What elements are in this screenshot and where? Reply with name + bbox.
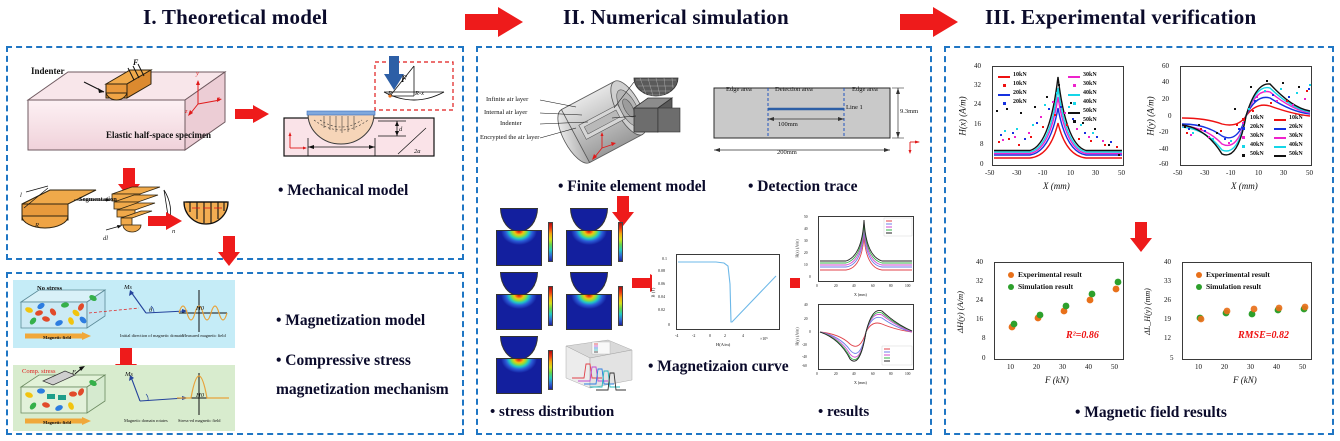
trace-label-edge-left: Edge area <box>726 86 752 93</box>
dh-ytick-16: 16 <box>976 315 983 323</box>
dh-xtick-30: 30 <box>1059 363 1066 371</box>
hy-xlabel: X (mm) <box>1231 181 1258 191</box>
dl-ytick-33: 33 <box>1164 277 1171 285</box>
dl-xtick-20: 20 <box>1221 363 1228 371</box>
dh-ytick-32: 32 <box>976 277 983 285</box>
H0-label-2: H0 <box>196 392 204 399</box>
hx-legend-30kN-dot: 30kN <box>1083 81 1097 87</box>
stage3-title: III. Experimental verification <box>985 5 1256 30</box>
stress-waterfall-plot <box>562 338 634 396</box>
dl-legend-experimental: Experimental result <box>1206 270 1270 279</box>
hy-legend-line-10kN <box>1274 119 1286 121</box>
hy-legend-40kN-dot: 40kN <box>1250 142 1264 148</box>
hy-xtick--50: -50 <box>1173 169 1182 177</box>
hx-legend-10kN-dot: 10kN <box>1013 81 1027 87</box>
hy-ylabel: H(y) (A/m) <box>1146 96 1156 135</box>
exp-chart-hx: 40 32 24 16 8 0 -50 -30 -10 10 30 50 X (… <box>958 56 1144 216</box>
hy-legend-50kN-dot: 50kN <box>1250 151 1264 157</box>
hx-ytick-0: 0 <box>980 160 984 168</box>
hy-legend-dot-10kN <box>1242 118 1245 121</box>
dh-xtick-40: 40 <box>1085 363 1092 371</box>
exp-chart-hy: 60 40 20 0 -20 -40 -60 -50 -30 -10 10 30… <box>1146 56 1332 216</box>
dh-xtick-50: 50 <box>1111 363 1118 371</box>
hx-legend-line-40kN <box>1068 94 1080 96</box>
dh-legend-experimental: Experimental result <box>1018 270 1082 279</box>
hy-legend-30kN-line: 30kN <box>1289 133 1303 139</box>
bullet-compressive-stress-2: magnetization mechanism <box>276 381 449 399</box>
hx-ylabel: H(x) (A/m) <box>958 96 968 135</box>
dl-annotation-rmse: RMSE=0.82 <box>1238 330 1289 341</box>
force-label-2: F <box>401 74 407 84</box>
dl-ytick-40: 40 <box>1164 258 1171 266</box>
H0-label-1: H0 <box>196 305 204 312</box>
sim-result-hx-chart: 50 40 30 20 10 0 0 20 40 60 80 100 X (mm… <box>800 212 920 312</box>
hy-legend-40kN-line: 40kN <box>1289 142 1303 148</box>
finite-element-model-diagram <box>484 60 704 175</box>
dl-legend-dot-experimental <box>1196 272 1202 278</box>
hx-legend-20kN-line: 20kN <box>1013 90 1027 96</box>
hx-xtick--10: -10 <box>1038 169 1047 177</box>
hy-legend-dot-40kN <box>1242 145 1245 148</box>
hy-xtick-30: 30 <box>1280 169 1287 177</box>
dh-xlabel: F (kN) <box>1045 375 1069 385</box>
hy-ytick--60: -60 <box>1159 160 1168 168</box>
hx-legend-line-50kN <box>1068 112 1080 114</box>
hx-legend-50kN-line: 50kN <box>1083 108 1097 114</box>
magcurve-ylabel: B (T) <box>650 288 655 298</box>
magnetization-curve-chart: 0.1 0.08 0.06 0.04 0.02 0 -4 -2 0 2 4 H(… <box>652 248 792 358</box>
dh-ytick-40: 40 <box>976 258 983 266</box>
hy-ytick-40: 40 <box>1162 78 1169 86</box>
magcurve-xexp: ×10⁵ <box>760 336 768 341</box>
contact-model-diagram <box>278 58 458 168</box>
sim-hy-xlabel: X (mm) <box>854 380 867 385</box>
hx-legend-line-30kN <box>1068 76 1080 78</box>
Ms-label-2: Ms <box>125 371 133 378</box>
bullet-mechanical-model: • Mechanical model <box>278 182 408 200</box>
hy-ytick--20: -20 <box>1159 128 1168 136</box>
trace-label-100mm: 100mm <box>778 121 798 128</box>
hx-xtick--30: -30 <box>1012 169 1021 177</box>
bullet-finite-element-model: • Finite element model <box>558 178 706 196</box>
figure-canvas: I. Theoretical model II. Numerical simul… <box>0 0 1340 441</box>
hx-legend-dot-30kN <box>1073 84 1076 87</box>
hy-legend-50kN-line: 50kN <box>1289 151 1303 157</box>
axis-z-label-1: z <box>185 108 188 115</box>
hx-ytick-8: 8 <box>980 140 984 148</box>
dl-xtick-50: 50 <box>1299 363 1306 371</box>
contact-width-label: 2a <box>414 148 421 155</box>
bullet-magnetization-model: • Magnetization model <box>276 312 425 330</box>
bullet-magnetic-field-results: • Magnetic field results <box>1075 404 1227 422</box>
arrow-to-magnetization-icon <box>218 236 240 266</box>
magnetic-field-caption-1: Magnetic field <box>43 335 71 340</box>
bullet-detection-trace: • Detection trace <box>748 178 858 196</box>
length-l-label: l <box>20 192 22 199</box>
hy-legend-line-40kN <box>1274 146 1286 148</box>
dh-ylabel: ΔH(y) (A/m) <box>955 291 965 333</box>
dl-xlabel: F (kN) <box>1233 375 1257 385</box>
dl-label: dl <box>103 235 108 242</box>
hx-legend-dot-40kN <box>1073 102 1076 105</box>
dl-ytick-26: 26 <box>1164 296 1171 304</box>
hx-xlabel: X (mm) <box>1043 181 1070 191</box>
hx-legend-10kN-line: 10kN <box>1013 72 1027 78</box>
fem-label-internal-air: Internal air layer <box>484 109 527 116</box>
hy-legend-30kN-dot: 30kN <box>1250 133 1264 139</box>
dl-ytick-19: 19 <box>1164 315 1171 323</box>
stage1-to-stage2-arrow-icon <box>465 7 523 37</box>
dh-xtick-20: 20 <box>1033 363 1040 371</box>
stage2-title: II. Numerical simulation <box>563 5 789 30</box>
dh-ytick-24: 24 <box>976 296 983 304</box>
hy-legend-line-30kN <box>1274 137 1286 139</box>
axis-y-label-1: y <box>196 70 199 77</box>
trace-label-9.3mm: 9.3mm <box>900 108 918 115</box>
hy-legend-20kN-line: 20kN <box>1289 124 1303 130</box>
hy-legend-dot-20kN <box>1242 127 1245 130</box>
bullet-stress-distribution: • stress distribution <box>490 404 614 421</box>
hx-legend-line-20kN <box>998 94 1010 96</box>
dh-legend-dot-experimental <box>1008 272 1014 278</box>
specimen-label: Elastic half-space specimen <box>106 130 211 140</box>
segmentation-diagram <box>14 182 234 252</box>
hx-legend-40kN-dot: 40kN <box>1083 99 1097 105</box>
hy-xtick--30: -30 <box>1200 169 1209 177</box>
inset-R-label: R <box>388 90 392 97</box>
arrow-to-contact-model-icon <box>235 105 269 123</box>
bullet-compressive-stress-1: • Compressive stress <box>276 352 411 370</box>
fem-label-indenter: Indenter <box>500 120 522 127</box>
hy-legend-10kN-line: 10kN <box>1289 115 1303 121</box>
hx-xtick-50: 50 <box>1118 169 1125 177</box>
trace-label-detection-area: Detection area <box>775 86 813 93</box>
Ms-label-1: Ms <box>124 284 132 291</box>
hy-legend-10kN-dot: 10kN <box>1250 115 1264 121</box>
arrow-to-magnetic-results-icon <box>1130 222 1152 252</box>
hx-xtick--50: -50 <box>985 169 994 177</box>
domain-rotates-caption: Magnetic domain rotates <box>124 418 168 423</box>
depth-label: d <box>399 126 402 133</box>
fem-label-encrypted-air: Encrypted the air layer <box>480 134 539 141</box>
hx-legend-40kN-line: 40kN <box>1083 90 1097 96</box>
hx-legend-dot-50kN <box>1073 120 1076 123</box>
hy-legend-line-50kN <box>1274 155 1286 157</box>
dh-annotation-r2: R²=0.86 <box>1066 330 1099 341</box>
dl-xtick-40: 40 <box>1273 363 1280 371</box>
sim-hx-ylabel: H(x) (A/m) <box>795 239 800 257</box>
dl-legend-simulation: Simulation result <box>1206 282 1261 291</box>
dl-xtick-10: 10 <box>1195 363 1202 371</box>
hy-legend-dot-30kN <box>1242 136 1245 139</box>
hy-xtick--10: -10 <box>1226 169 1235 177</box>
sim-result-hy-chart: 40 20 0 -20 -40 -60 0 20 40 60 80 100 X … <box>800 300 920 400</box>
hx-legend-50kN-dot: 50kN <box>1083 117 1097 123</box>
stage1-title: I. Theoretical model <box>143 5 328 30</box>
detection-trace-diagram <box>706 68 920 168</box>
hx-legend-dot-10kN <box>1003 84 1006 87</box>
force-label-3: F <box>72 369 76 376</box>
dl-ylabel: ΔL_H(y) (mm) <box>1143 288 1152 335</box>
dh-ytick-0: 0 <box>982 354 986 362</box>
hy-ytick-0: 0 <box>1168 112 1172 120</box>
trace-label-200mm: 200mm <box>777 149 797 156</box>
arrow-to-stress-distribution-icon <box>612 196 634 226</box>
hx-xtick-10: 10 <box>1067 169 1074 177</box>
dh-xtick-10: 10 <box>1007 363 1014 371</box>
hy-xtick-50: 50 <box>1306 169 1313 177</box>
dl-xtick-30: 30 <box>1247 363 1254 371</box>
axis-x-label-1: x <box>217 95 220 102</box>
magnetic-field-caption-2: Magnetic field <box>43 420 71 425</box>
stage2-to-stage3-arrow-icon <box>900 7 958 37</box>
theta-label: θ <box>149 307 152 314</box>
hy-legend-dot-50kN <box>1242 154 1245 157</box>
exp-chart-delta-h: Experimental result Simulation result R²… <box>958 252 1144 412</box>
dh-legend-simulation: Simulation result <box>1018 282 1073 291</box>
measured-field-caption: Measured magnetic field <box>182 333 226 338</box>
force-label-1: F <box>133 58 138 67</box>
magcurve-xlabel: H(A/m) <box>716 342 730 347</box>
dl-legend-dot-simulation <box>1196 284 1202 290</box>
sim-hy-ylabel: H(y) (A/m) <box>795 327 800 345</box>
dh-legend-dot-simulation <box>1008 284 1014 290</box>
force-arrow-icon <box>384 56 404 90</box>
hx-legend-dot-20kN <box>1003 102 1006 105</box>
bullet-results: • results <box>818 404 869 421</box>
hx-ytick-16: 16 <box>974 120 981 128</box>
radius-R-label: R <box>35 222 39 229</box>
hx-legend-30kN-line: 30kN <box>1083 72 1097 78</box>
fem-label-infinite-air: Infinite air layer <box>486 96 528 103</box>
no-stress-label: No stress <box>37 285 62 292</box>
stress-field-caption: Stress-ed magnetic field <box>178 418 220 423</box>
trace-label-line1: Line 1 <box>846 104 863 111</box>
hx-xtick-30: 30 <box>1092 169 1099 177</box>
segmentation-label: Segmentation <box>79 196 117 203</box>
compressive-stress-label: Comp. stress <box>22 368 56 375</box>
inset-Rx-label: R-x <box>415 90 424 97</box>
hx-legend-20kN-dot: 20kN <box>1013 99 1027 105</box>
hx-legend-line-10kN <box>998 76 1010 78</box>
arrow-to-discretized-icon <box>148 212 182 230</box>
bullet-magnetization-curve: • Magnetizaion curve <box>648 358 789 376</box>
hy-xtick-10: 10 <box>1255 169 1262 177</box>
hy-ytick-20: 20 <box>1162 95 1169 103</box>
hy-ytick--40: -40 <box>1159 145 1168 153</box>
hx-ytick-40: 40 <box>974 62 981 70</box>
trace-label-edge-right: Edge area <box>852 86 878 93</box>
dl-ytick-5: 5 <box>1170 354 1174 362</box>
exp-chart-delta-l: Experimental result Simulation result RM… <box>1146 252 1332 412</box>
hx-ytick-32: 32 <box>974 81 981 89</box>
sim-hx-xlabel: X (mm) <box>854 292 867 297</box>
initial-direction-caption: Initial direction of magnetic domain <box>120 333 183 338</box>
hy-ytick-60: 60 <box>1162 62 1169 70</box>
indenter-label: Indenter <box>31 66 65 76</box>
hy-legend-line-20kN <box>1274 128 1286 130</box>
dl-ytick-12: 12 <box>1164 334 1171 342</box>
hy-legend-20kN-dot: 20kN <box>1250 124 1264 130</box>
dh-ytick-8: 8 <box>982 334 986 342</box>
hx-ytick-24: 24 <box>974 100 981 108</box>
